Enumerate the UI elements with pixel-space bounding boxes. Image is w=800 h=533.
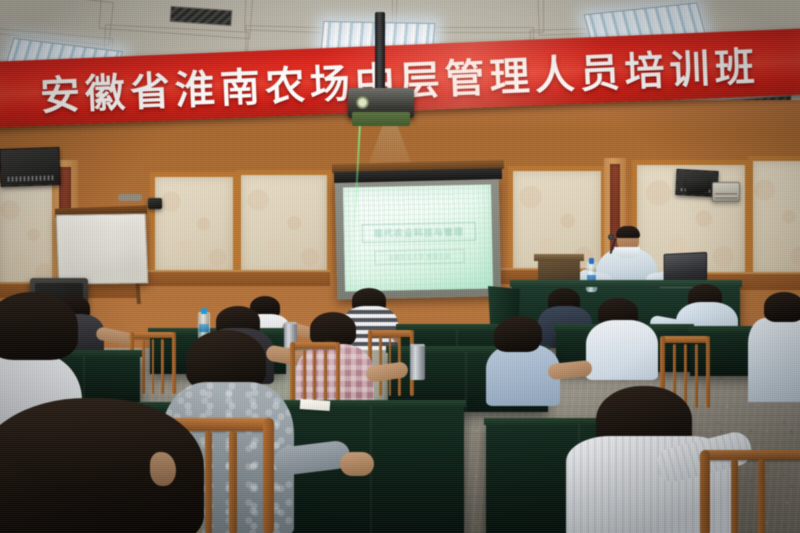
chair-top-rail bbox=[130, 332, 176, 338]
slide-subtitle-text: 安徽农业大学 教授主讲 bbox=[388, 253, 450, 262]
podium-lid bbox=[534, 254, 584, 261]
projector-base-plate bbox=[352, 112, 410, 126]
chair-top-rail bbox=[290, 342, 340, 349]
bottle-label bbox=[199, 324, 209, 332]
projection-screen: 现代农业科技与管理 安徽农业大学 教授主讲 bbox=[335, 178, 501, 299]
speaker-grille-icon bbox=[7, 176, 54, 182]
chair-post bbox=[706, 336, 711, 408]
chair-slat bbox=[695, 344, 698, 408]
chair-slat bbox=[684, 344, 687, 408]
projector-pole-mount bbox=[375, 12, 385, 94]
whiteboard-on-easel bbox=[56, 213, 149, 284]
wall-dado-center-left bbox=[140, 270, 330, 286]
chair-top-rail bbox=[700, 450, 800, 460]
projection-surface: 现代农业科技与管理 安徽农业大学 教授主讲 bbox=[343, 184, 493, 291]
chair-top-rail bbox=[660, 336, 710, 343]
presenter-hair bbox=[616, 226, 640, 238]
attendee-ear bbox=[150, 452, 176, 486]
bottle-cap bbox=[589, 258, 594, 264]
handout-paper bbox=[300, 399, 331, 411]
bottle-cap bbox=[201, 308, 207, 313]
water-bottle bbox=[586, 262, 597, 292]
wall-panel-right-far bbox=[748, 156, 800, 282]
attendee-hair bbox=[764, 292, 800, 322]
chair-slat bbox=[152, 339, 155, 394]
metal-thermos bbox=[410, 344, 425, 380]
slide-title-box: 现代农业科技与管理 bbox=[361, 222, 476, 243]
chair-slat bbox=[758, 459, 765, 533]
chair-post bbox=[172, 332, 176, 394]
chair-slat bbox=[205, 431, 212, 533]
chair-slat bbox=[731, 459, 738, 533]
attendee-hand bbox=[340, 452, 374, 476]
wall-panel-center-left bbox=[236, 170, 332, 280]
projector-lens-icon bbox=[356, 96, 369, 109]
slide-subtitle-box: 安徽农业大学 教授主讲 bbox=[374, 249, 465, 264]
photograph-training-session: 安徽省淮南农场中层管理人员培训班 现代农业科技与管理 安徽农业大学 教授主讲 bbox=[0, 0, 800, 533]
attendee-hair bbox=[494, 318, 540, 352]
chair[interactable] bbox=[700, 450, 800, 533]
chair-top-rail bbox=[368, 330, 414, 337]
chair-post bbox=[700, 450, 710, 533]
chair-post bbox=[263, 418, 274, 533]
slide-title-text: 现代农业科技与管理 bbox=[374, 225, 464, 240]
wall-mounted-ac-unit bbox=[712, 182, 740, 202]
chair-slat bbox=[229, 431, 236, 533]
ac-vent-icon bbox=[715, 193, 738, 199]
microphone-icon bbox=[608, 234, 614, 240]
chair-slat bbox=[142, 339, 145, 394]
attendee-hair bbox=[186, 330, 266, 390]
attendee-torso bbox=[586, 320, 658, 380]
chair-slat bbox=[161, 339, 164, 394]
wall-speaker-left bbox=[0, 147, 61, 187]
equipment-box-right bbox=[686, 178, 708, 192]
attendee-shoulder bbox=[748, 318, 800, 402]
wall-fitting-box bbox=[148, 198, 162, 209]
wall-bracket bbox=[118, 194, 142, 201]
wall-panel-left bbox=[150, 172, 238, 280]
